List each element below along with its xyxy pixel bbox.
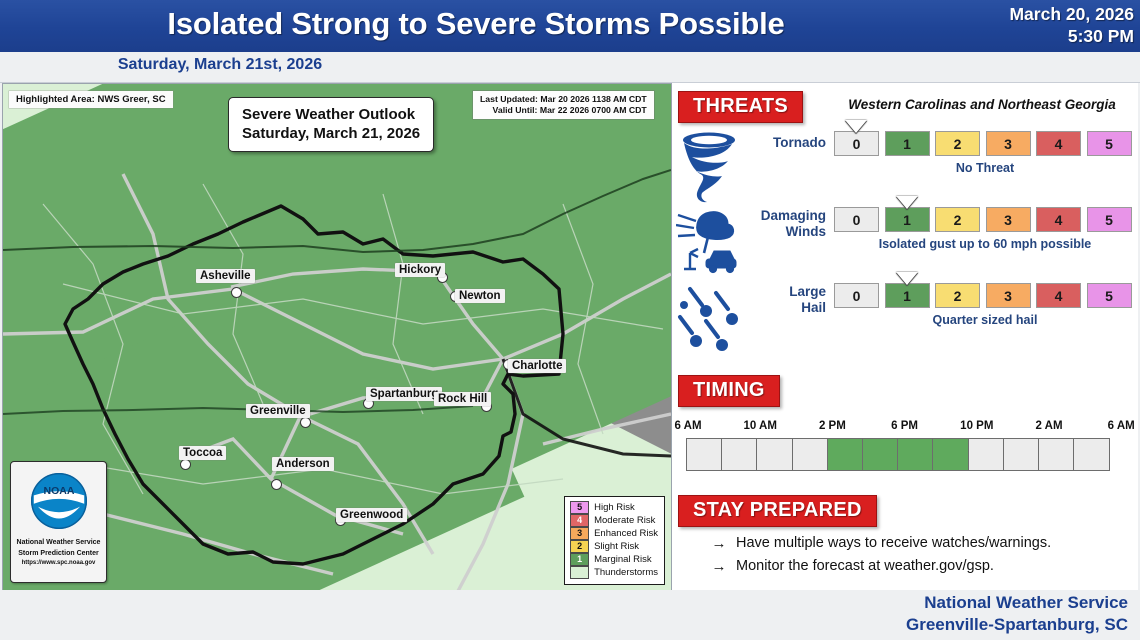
scale-cell-2[interactable]: 2	[935, 207, 980, 232]
issuance-date: March 20, 2026	[944, 3, 1134, 25]
noaa-agency-line1: National Weather Service	[11, 538, 106, 547]
timing-cell[interactable]	[932, 438, 968, 471]
threats-region-label: Western Carolinas and Northeast Georgia	[832, 97, 1132, 112]
right-panel: THREATS Western Carolinas and Northeast …	[672, 83, 1138, 590]
timing-cell[interactable]	[862, 438, 898, 471]
scale-cell-2[interactable]: 2	[935, 131, 980, 156]
legend-swatch: 1	[570, 553, 589, 566]
prep-text: Monitor the forecast at weather.gov/gsp.	[736, 558, 994, 574]
stay-prepared-heading-wrap: STAY PREPARED	[678, 495, 877, 527]
legend-swatch: 4	[570, 514, 589, 527]
legend-swatch: 5	[570, 501, 589, 514]
timing-cell[interactable]	[968, 438, 1004, 471]
page-title: Isolated Strong to Severe Storms Possibl…	[0, 6, 952, 42]
city-pin	[271, 479, 282, 490]
noaa-logo-icon: NOAA	[24, 466, 94, 536]
threat-name: Tornado	[744, 135, 826, 151]
map-risk-legend: 5High Risk4Moderate Risk3Enhanced Risk2S…	[564, 496, 665, 585]
threat-description: Quarter sized hail	[834, 313, 1136, 327]
legend-label: Enhanced Risk	[594, 528, 658, 539]
city-label: Newton	[455, 289, 505, 303]
scale-cell-0[interactable]: 0	[834, 283, 879, 308]
scale-cell-0[interactable]: 0	[834, 131, 879, 156]
legend-swatch	[570, 566, 589, 579]
city-label: Hickory	[395, 263, 445, 277]
city-label: Greenwood	[336, 508, 407, 522]
timing-cell[interactable]	[792, 438, 828, 471]
timing-cell[interactable]	[1038, 438, 1074, 471]
legend-label: Thunderstorms	[594, 567, 658, 578]
legend-row: 3Enhanced Risk	[570, 527, 658, 540]
outlook-title-line2: Saturday, March 21, 2026	[242, 124, 420, 143]
timing-cell[interactable]	[1073, 438, 1109, 471]
large-hail-icon	[676, 283, 746, 355]
threat-name: DamagingWinds	[744, 208, 826, 240]
timing-axis-labels: 6 AM10 AM2 PM6 PM10 PM2 AM6 AM	[672, 420, 1138, 436]
damaging-winds-icon	[676, 207, 746, 279]
threats-heading-wrap: THREATS	[678, 91, 803, 123]
threat-scale[interactable]: 012345	[834, 207, 1134, 235]
scale-cell-4[interactable]: 4	[1036, 283, 1081, 308]
outlook-title-box: Severe Weather Outlook Saturday, March 2…	[228, 97, 434, 152]
list-item: →Monitor the forecast at weather.gov/gsp…	[702, 558, 994, 575]
highlighted-area-label: Highlighted Area: NWS Greer, SC	[9, 91, 173, 108]
noaa-spc-logo-box: NOAA National Weather Service Storm Pred…	[10, 461, 107, 583]
timing-label: 2 PM	[809, 420, 855, 432]
city-label: Toccoa	[179, 446, 226, 460]
timing-cell[interactable]	[897, 438, 933, 471]
footer-office: National Weather Service Greenville-Spar…	[906, 592, 1128, 636]
legend-swatch: 2	[570, 540, 589, 553]
scale-cell-1[interactable]: 1	[885, 283, 930, 308]
issuance-timestamp: March 20, 2026 5:30 PM	[944, 3, 1134, 47]
arrow-icon: →	[702, 558, 736, 575]
threat-level-marker	[845, 120, 867, 133]
legend-swatch: 3	[570, 527, 589, 540]
timing-cell[interactable]	[721, 438, 757, 471]
svg-text:NOAA: NOAA	[43, 485, 74, 497]
timing-label: 6 AM	[1098, 420, 1140, 432]
legend-row: 4Moderate Risk	[570, 514, 658, 527]
noaa-agency-line2: Storm Prediction Center	[11, 549, 106, 558]
severe-weather-outlook-map[interactable]: Highlighted Area: NWS Greer, SC Severe W…	[2, 83, 672, 592]
arrow-icon: →	[702, 535, 736, 552]
valid-until-text: Valid Until: Mar 22 2026 0700 AM CDT	[480, 105, 647, 116]
threat-level-marker	[896, 272, 918, 285]
legend-row: 5High Risk	[570, 501, 658, 514]
outlook-title-line1: Severe Weather Outlook	[242, 105, 420, 124]
footer-line1: National Weather Service	[906, 592, 1128, 614]
footer-line2: Greenville-Spartanburg, SC	[906, 614, 1128, 636]
threat-description: Isolated gust up to 60 mph possible	[834, 237, 1136, 251]
scale-cell-2[interactable]: 2	[935, 283, 980, 308]
scale-cell-3[interactable]: 3	[986, 283, 1031, 308]
list-item: →Have multiple ways to receive watches/w…	[702, 535, 1051, 552]
city-label: Rock Hill	[434, 392, 491, 406]
timing-label: 6 AM	[665, 420, 711, 432]
city-pin	[180, 459, 191, 470]
scale-cell-1[interactable]: 1	[885, 207, 930, 232]
tornado-icon	[676, 131, 746, 203]
scale-cell-1[interactable]: 1	[885, 131, 930, 156]
legend-label: High Risk	[594, 502, 635, 513]
city-label: Greenville	[246, 404, 310, 418]
legend-label: Marginal Risk	[594, 554, 652, 565]
header-bar: Isolated Strong to Severe Storms Possibl…	[0, 0, 1140, 52]
timing-cell[interactable]	[756, 438, 792, 471]
threat-scale[interactable]: 012345	[834, 131, 1134, 159]
timing-heading-wrap: TIMING	[678, 375, 780, 407]
timing-cell[interactable]	[827, 438, 863, 471]
threat-level-marker	[896, 196, 918, 209]
scale-cell-3[interactable]: 3	[986, 207, 1031, 232]
noaa-url: https://www.spc.noaa.gov	[11, 560, 106, 566]
validity-box: Last Updated: Mar 20 2026 1138 AM CDT Va…	[473, 91, 654, 119]
stay-prepared-heading: STAY PREPARED	[678, 495, 877, 527]
city-label: Spartanburg	[366, 387, 442, 401]
scale-cell-3[interactable]: 3	[986, 131, 1031, 156]
legend-row: Thunderstorms	[570, 566, 658, 579]
last-updated-text: Last Updated: Mar 20 2026 1138 AM CDT	[480, 94, 647, 105]
issuance-time: 5:30 PM	[944, 25, 1134, 47]
scale-cell-5[interactable]: 5	[1087, 283, 1132, 308]
forecast-day-label: Saturday, March 21st, 2026	[0, 56, 440, 74]
timing-label: 2 AM	[1026, 420, 1072, 432]
city-pin	[231, 287, 242, 298]
city-pin	[300, 417, 311, 428]
threat-scale[interactable]: 012345	[834, 283, 1134, 311]
timing-cell[interactable]	[1003, 438, 1039, 471]
scale-cell-4[interactable]: 4	[1036, 131, 1081, 156]
city-label: Charlotte	[508, 359, 566, 373]
legend-label: Moderate Risk	[594, 515, 655, 526]
timing-label: 6 PM	[882, 420, 928, 432]
timing-label: 10 AM	[737, 420, 783, 432]
scale-cell-5[interactable]: 5	[1087, 131, 1132, 156]
legend-row: 1Marginal Risk	[570, 553, 658, 566]
scale-cell-4[interactable]: 4	[1036, 207, 1081, 232]
subtitle-bar: Saturday, March 21st, 2026	[0, 52, 1140, 83]
weather-graphic: Isolated Strong to Severe Storms Possibl…	[0, 0, 1140, 640]
timing-bar[interactable]	[686, 438, 1108, 471]
timing-heading: TIMING	[678, 375, 780, 407]
footer-bar: National Weather Service Greenville-Spar…	[0, 590, 1140, 640]
legend-row: 2Slight Risk	[570, 540, 658, 553]
threat-row-large-hail: LargeHail012345Quarter sized hail	[672, 283, 1138, 359]
threat-name: LargeHail	[744, 284, 826, 316]
scale-cell-0[interactable]: 0	[834, 207, 879, 232]
timing-cell[interactable]	[686, 438, 722, 471]
city-label: Anderson	[272, 457, 334, 471]
threats-heading: THREATS	[678, 91, 803, 123]
city-label: Asheville	[196, 269, 255, 283]
scale-cell-5[interactable]: 5	[1087, 207, 1132, 232]
threat-description: No Threat	[834, 161, 1136, 175]
legend-label: Slight Risk	[594, 541, 639, 552]
prep-text: Have multiple ways to receive watches/wa…	[736, 535, 1051, 551]
timing-label: 10 PM	[954, 420, 1000, 432]
